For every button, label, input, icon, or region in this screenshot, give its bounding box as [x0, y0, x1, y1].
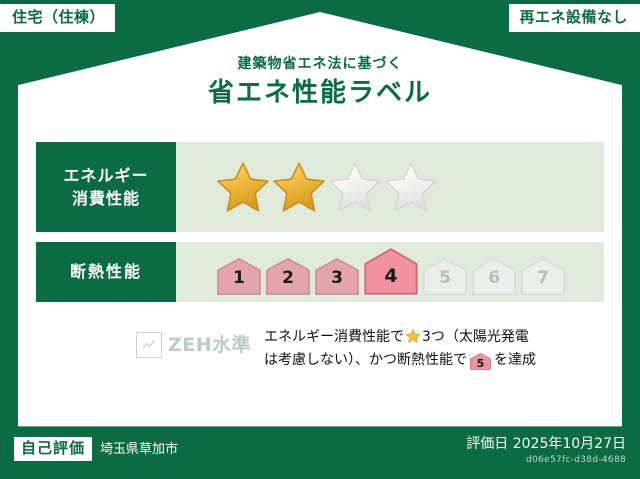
evaluation-date: 評価日 2025年10月27日	[466, 435, 626, 453]
title-block: 建築物省エネ法に基づく 省エネ性能ラベル	[0, 56, 640, 109]
zeh-standard-row: ZEH水準 エネルギー消費性能で3つ（太陽光発電 は考慮しない）、かつ断熱性能で…	[136, 326, 536, 372]
insulation-house-number: 4	[384, 267, 397, 296]
header-roof-area: 住宅（住棟） 再エネ設備なし 建築物省エネ法に基づく 省エネ性能ラベル	[0, 0, 640, 130]
insulation-house-4: 4	[363, 248, 419, 296]
star-empty-icon	[328, 160, 382, 214]
footer-bar: 自己評価 埼玉県草加市 評価日 2025年10月27日 d06e57fc-d38…	[0, 426, 640, 479]
insulation-house-5: 5	[422, 256, 468, 296]
inline-star-icon	[405, 328, 421, 344]
row-energy-content	[176, 142, 604, 232]
footer-right: 評価日 2025年10月27日 d06e57fc-d38d-4688	[466, 435, 626, 467]
row-energy-performance: エネルギー 消費性能	[36, 142, 604, 232]
insulation-house-7: 7	[520, 256, 566, 296]
insulation-house-2: 2	[265, 256, 311, 296]
insulation-house-number: 3	[331, 270, 343, 296]
zeh-mark: ZEH水準	[136, 326, 264, 358]
zeh-desc-line1-b: 3つ（太陽光発電	[422, 329, 529, 345]
row-insulation-label: 断熱性能	[36, 242, 176, 302]
star-rating	[216, 160, 438, 214]
badge-renewable-equipment: 再エネ設備なし	[509, 4, 640, 32]
zeh-label: ZEH水準	[168, 336, 251, 355]
row-energy-label-line1: エネルギー	[63, 164, 148, 187]
zeh-desc-line2-a: は考慮しない）、かつ断熱性能で	[264, 352, 467, 368]
row-insulation-performance: 断熱性能 1234567	[36, 242, 604, 302]
star-empty-icon	[384, 160, 438, 214]
zeh-description-line1: エネルギー消費性能で3つ（太陽光発電	[264, 326, 536, 349]
insulation-house-number: 5	[439, 270, 451, 296]
insulation-house-1: 1	[216, 256, 262, 296]
zeh-description-line2: は考慮しない）、かつ断熱性能で5を達成	[264, 349, 536, 372]
zeh-desc-line1-a: エネルギー消費性能で	[264, 329, 404, 345]
row-energy-label-line2: 消費性能	[72, 187, 140, 210]
self-evaluation-badge: 自己評価	[14, 437, 92, 461]
insulation-house-3: 3	[314, 256, 360, 296]
insulation-house-number: 1	[233, 270, 245, 296]
inline-house-number: 5	[470, 353, 491, 374]
page-title: 省エネ性能ラベル	[0, 77, 640, 110]
label-card: エネルギー 消費性能 断熱性能 1234567	[18, 130, 622, 426]
badge-building-type: 住宅（住棟）	[0, 4, 115, 32]
energy-performance-label: 住宅（住棟） 再エネ設備なし 建築物省エネ法に基づく 省エネ性能ラベル エネルギ…	[0, 0, 640, 479]
insulation-house-6: 6	[471, 256, 517, 296]
star-filled-icon	[272, 160, 326, 214]
city-name: 埼玉県草加市	[100, 443, 178, 456]
insulation-house-number: 2	[282, 270, 294, 296]
insulation-house-number: 7	[537, 270, 549, 296]
insulation-level-scale: 1234567	[216, 248, 566, 296]
inline-house-icon: 5	[470, 353, 491, 370]
zeh-description: エネルギー消費性能で3つ（太陽光発電 は考慮しない）、かつ断熱性能で5を達成	[264, 326, 536, 372]
zeh-chart-icon	[136, 332, 162, 358]
insulation-house-number: 6	[488, 270, 500, 296]
evaluation-id: d06e57fc-d38d-4688	[466, 455, 626, 467]
row-energy-label: エネルギー 消費性能	[36, 142, 176, 232]
star-filled-icon	[216, 160, 270, 214]
footer-left: 自己評価 埼玉県草加市	[14, 437, 178, 461]
row-insulation-content: 1234567	[176, 242, 604, 302]
title-subtitle: 建築物省エネ法に基づく	[0, 56, 640, 73]
zeh-desc-line2-b: を達成	[494, 352, 536, 368]
footer-divider	[18, 426, 622, 427]
